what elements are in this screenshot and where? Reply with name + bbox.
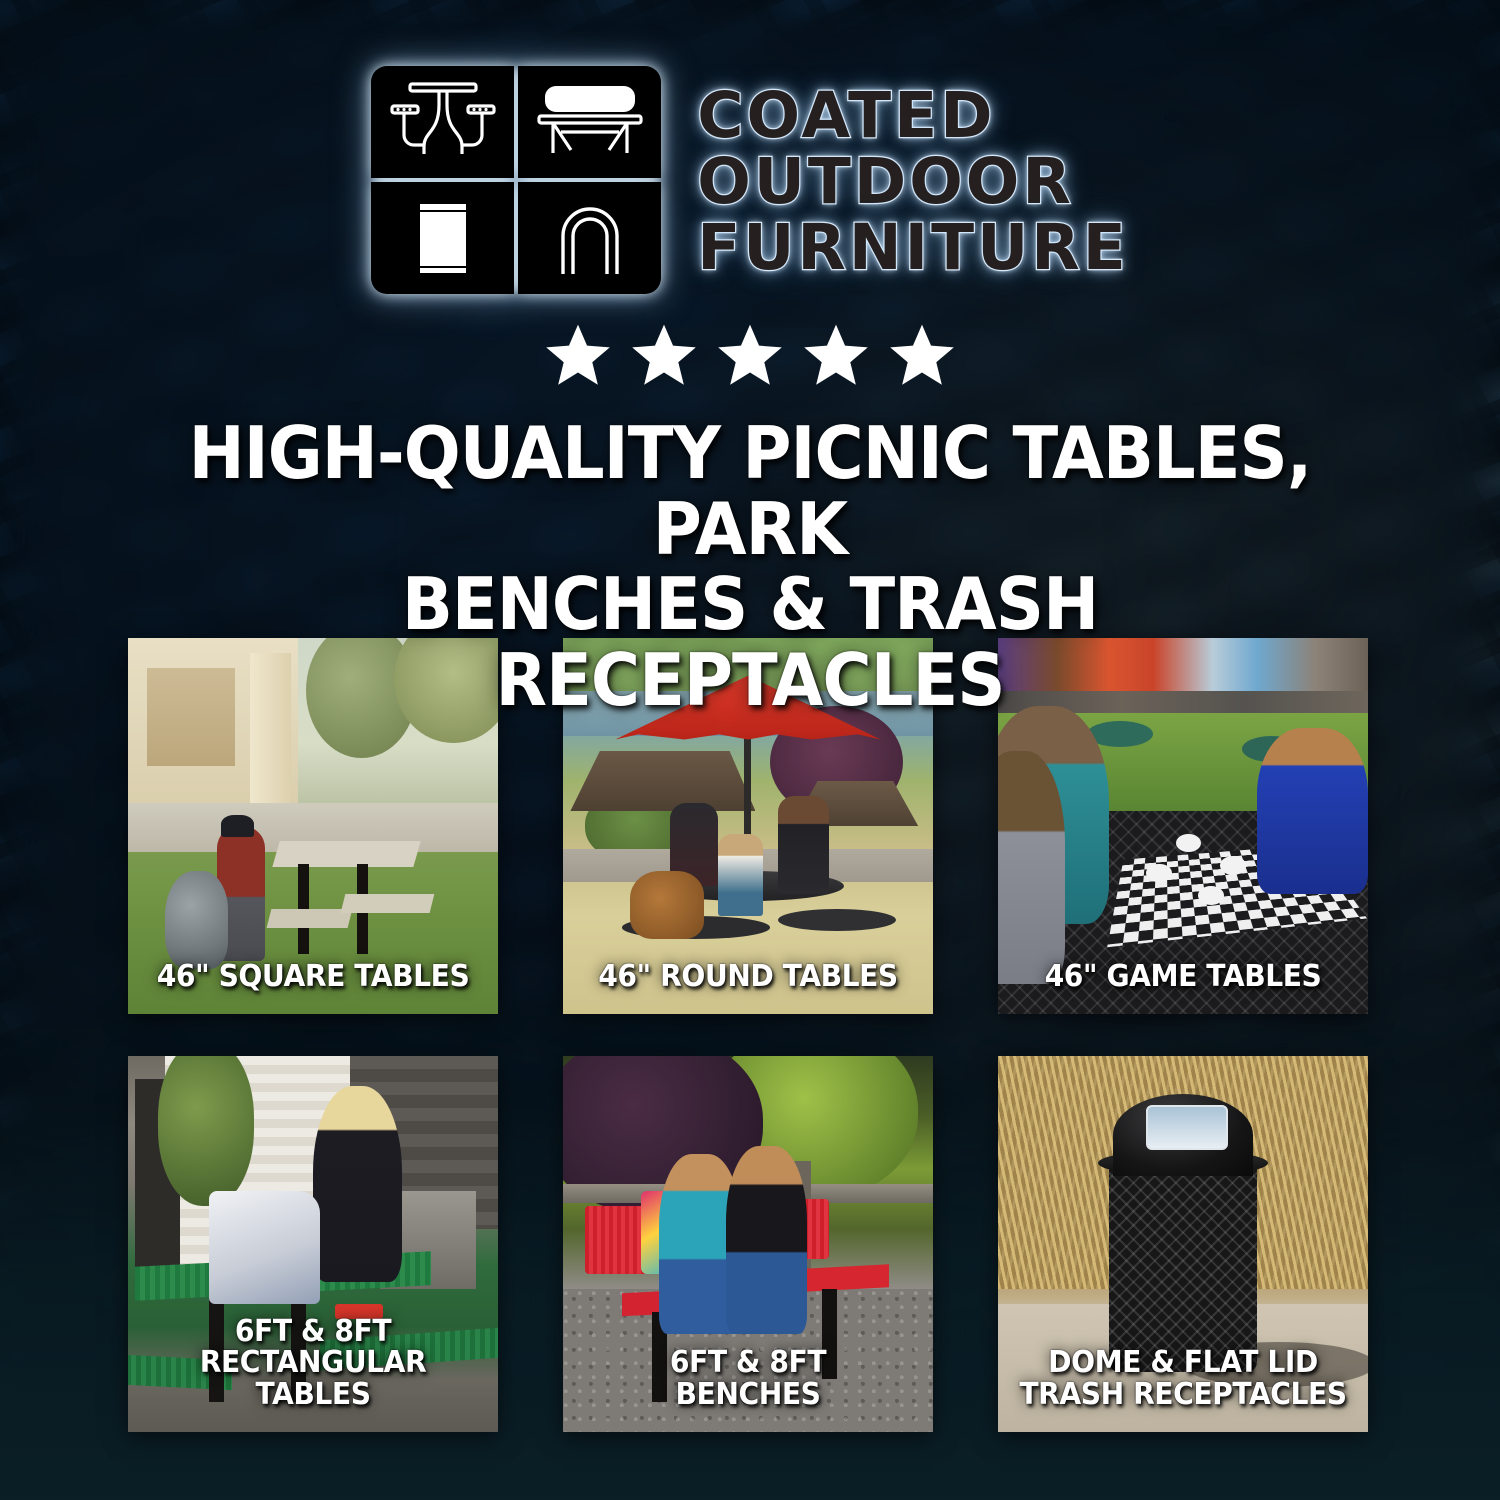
star-icon — [886, 320, 958, 390]
product-tile-benches[interactable]: 6FT & 8FT BENCHES — [563, 1056, 933, 1432]
brand-logo: COATED OUTDOOR FURNITURE — [0, 0, 1500, 294]
page-headline: HIGH-QUALITY PICNIC TABLES, PARK BENCHES… — [150, 416, 1350, 718]
bike-rack-icon — [518, 182, 661, 294]
star-icon — [800, 320, 872, 390]
star-icon — [542, 320, 614, 390]
tile-caption-line-1: 46" ROUND TABLES — [598, 959, 898, 994]
park-bench-icon — [518, 66, 661, 178]
tile-caption-line-1: 46" GAME TABLES — [1045, 959, 1322, 994]
tile-caption: 6FT & 8FT BENCHES — [574, 1347, 922, 1410]
tile-caption-line-1: 46" SQUARE TABLES — [157, 959, 470, 994]
tile-caption-line-1: 6FT & 8FT — [235, 1314, 391, 1349]
brand-line-2: OUTDOOR — [697, 150, 1129, 214]
tile-caption: 6FT & 8FT RECTANGULAR TABLES — [139, 1316, 487, 1411]
tile-caption-line-1: 6FT & 8FT — [670, 1345, 826, 1380]
brand-line-1: COATED — [697, 84, 1129, 148]
tile-caption-line-1: DOME & FLAT LID — [1048, 1345, 1318, 1380]
tile-caption: 46" ROUND TABLES — [574, 961, 922, 993]
tile-caption: 46" SQUARE TABLES — [139, 961, 487, 993]
product-tile-trash-receptacles[interactable]: DOME & FLAT LID TRASH RECEPTACLES — [998, 1056, 1368, 1432]
logo-mark — [371, 66, 661, 294]
tile-caption: 46" GAME TABLES — [1009, 961, 1357, 993]
star-icon — [714, 320, 786, 390]
product-tile-rectangular-tables[interactable]: 6FT & 8FT RECTANGULAR TABLES — [128, 1056, 498, 1432]
brand-line-3: FURNITURE — [697, 216, 1129, 280]
trash-receptacle-icon — [371, 182, 514, 294]
headline-line-2: BENCHES & TRASH RECEPTACLES — [150, 567, 1350, 718]
tile-caption-line-2: RECTANGULAR TABLES — [147, 1347, 480, 1410]
marketing-poster: COATED OUTDOOR FURNITURE HIGH-QUALITY PI… — [0, 0, 1500, 1500]
picnic-table-icon — [371, 66, 514, 178]
star-icon — [628, 320, 700, 390]
headline-line-1: HIGH-QUALITY PICNIC TABLES, PARK — [150, 416, 1350, 567]
tile-caption: DOME & FLAT LID TRASH RECEPTACLES — [1009, 1347, 1357, 1410]
tile-caption-line-2: BENCHES — [582, 1379, 915, 1411]
product-category-grid: 46" SQUARE TABLES 46" ROUND TABLES — [128, 638, 1372, 1432]
brand-name: COATED OUTDOOR FURNITURE — [697, 80, 1129, 281]
tile-caption-line-2: TRASH RECEPTACLES — [1017, 1379, 1350, 1411]
star-rating — [0, 320, 1500, 390]
